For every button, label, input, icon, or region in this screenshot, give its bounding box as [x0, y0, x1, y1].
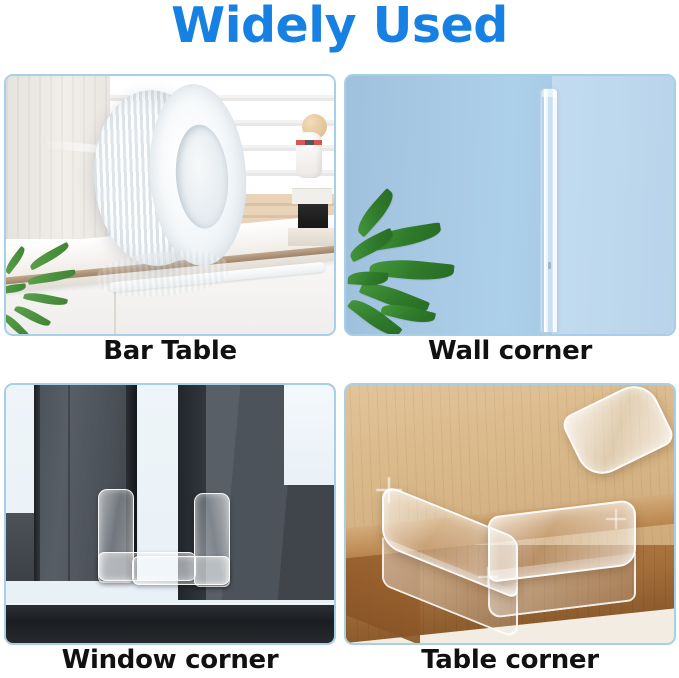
page-title: Widely Used — [0, 0, 679, 54]
shelf-item-dark — [298, 204, 328, 230]
astronaut-stripe — [296, 140, 322, 145]
astronaut-body — [296, 132, 322, 178]
sparkle-icon — [606, 509, 626, 529]
photo-bar-table — [4, 74, 336, 336]
wall-corner-guard-cap — [542, 89, 557, 97]
astronaut-figurine — [294, 114, 330, 192]
window-frame-left-edge — [34, 385, 40, 581]
panel-grid: Bar Table Wall corner — [0, 64, 679, 676]
floor-strip — [6, 605, 334, 643]
potted-plant — [348, 218, 488, 336]
shelf-item-base — [288, 228, 334, 246]
photo-table-corner — [344, 383, 676, 645]
panel-table-corner[interactable]: Table corner — [344, 373, 676, 678]
panel-bar-table[interactable]: Bar Table — [4, 64, 336, 369]
panel-wall-corner[interactable]: Wall corner — [344, 64, 676, 369]
sparkle-icon — [478, 567, 498, 587]
photo-window-corner — [4, 383, 336, 645]
cabinet-seam — [114, 292, 116, 334]
sparkle-icon — [376, 477, 402, 503]
panel-caption-table-corner: Table corner — [344, 645, 676, 675]
panel-window-corner[interactable]: Window corner — [4, 373, 336, 678]
panel-caption-window-corner: Window corner — [4, 645, 336, 675]
corner-guard-right — [192, 493, 230, 585]
table-corner-protector — [382, 471, 632, 619]
wall-corner-guard-mark — [548, 262, 551, 269]
wall-corner-guard — [542, 89, 557, 332]
corner-guard-right-horizontal — [132, 556, 230, 585]
wall-face-right — [552, 76, 674, 334]
photo-wall-corner — [344, 74, 676, 336]
corner-guard-left — [98, 489, 136, 581]
window-frame-left-groove — [68, 385, 70, 581]
tape-roll — [88, 86, 220, 270]
potted-fern — [4, 256, 74, 336]
window-opening — [284, 385, 336, 485]
window-sill-left — [6, 513, 36, 581]
panel-caption-wall-corner: Wall corner — [344, 336, 676, 366]
panel-caption-bar-table: Bar Table — [4, 336, 336, 366]
